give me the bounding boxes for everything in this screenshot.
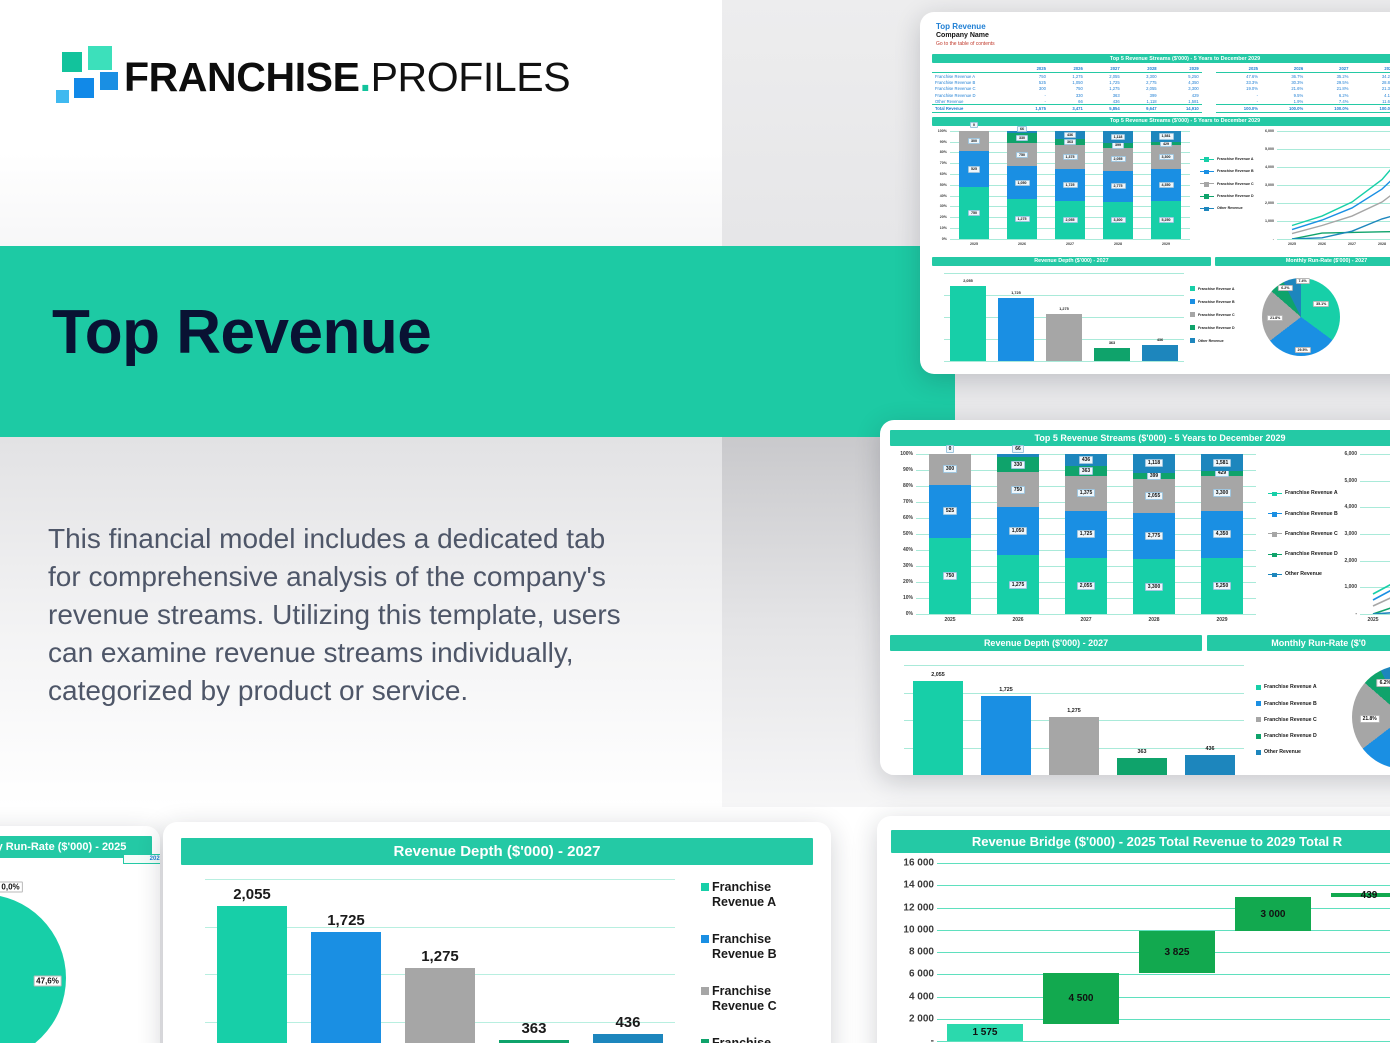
th-2025-pct: 2025 <box>1216 65 1261 73</box>
band-title-depth-large: Revenue Depth ($'000) - 2027 <box>181 838 813 865</box>
stack-column: 3,300 2,775 2,055 399 1,118 <box>1120 454 1188 614</box>
band-title-runrate: Monthly Run-Rate ($'000) - 2027 <box>1215 257 1390 266</box>
charts-row-1: 100% 90% 80% 70% 60% 50% 40% 30% 20% 10%… <box>932 129 1390 249</box>
stack-column: 1,275 1,050 750 330 66 <box>998 131 1046 239</box>
charts-row-2: 2,055 1,725 1,275 363 436 Franchise Reve… <box>932 269 1390 369</box>
th-2026-abs: 2026 <box>1049 65 1086 73</box>
revenue-table: 2025 2026 2027 2028 2029 2025 2026 2027 … <box>932 65 1390 112</box>
logo-word-franchise: FRANCHISE <box>124 54 360 100</box>
table-of-contents-link[interactable]: Go to the table of contents <box>936 41 1390 48</box>
stack-column: 1,275 1,050 750 330 66 <box>984 454 1052 614</box>
stack-column: 750 525 300 0 <box>950 131 998 239</box>
page-title: Top Revenue <box>52 302 431 364</box>
pie-runrate-2027: 35.1% 29.5% 21.8% 6.2% 7.4% <box>1262 278 1340 356</box>
runrate-lines-svg <box>1277 131 1390 239</box>
band-title-runrate-zoom: Monthly Run-Rate ($'0 <box>1207 635 1390 651</box>
chart-monthly-runrate-zoom[interactable]: 6,000 5,000 4,000 3,000 2,000 1,000 - 20… <box>1360 454 1390 614</box>
band-title-depth-zoom: Revenue Depth ($'000) - 2027 <box>890 635 1202 651</box>
th-2028-pct: 2028 <box>1351 65 1390 73</box>
stack-column: 5,250 4,350 3,300 429 1,581 <box>1142 131 1190 239</box>
logo-dot: . <box>360 54 371 100</box>
stack-column: 2,055 1,725 1,375 363 436 <box>1046 131 1094 239</box>
legend-top5-zoom: Franchise Revenue A Franchise Revenue B … <box>1268 454 1338 614</box>
th-2027-abs: 2027 <box>1086 65 1123 73</box>
logo-word-profiles: PROFILES <box>371 54 571 100</box>
background-top-left <box>0 0 722 246</box>
band-title-top5-zoom: Top 5 Revenue Streams ($'000) - 5 Years … <box>890 430 1390 446</box>
dashboard-preview-full[interactable]: Top Revenue Company Name Go to the table… <box>920 12 1390 374</box>
charts-row-zoom-1: 100% 90% 80% 70% 60% 50% 40% 30% 20% 10%… <box>890 454 1390 629</box>
legend-top5-small: Franchise Revenue A Franchise Revenue B … <box>1200 129 1254 239</box>
depth-large-body: 2,055 1,725 1,275 363 436 Franchise Reve… <box>181 879 813 1043</box>
band-titles-zoom-row-2: Revenue Depth ($'000) - 2027 Monthly Run… <box>890 635 1390 651</box>
table-row: Other Revenue -66 4361,118 1,581 -1.9% 7… <box>932 98 1390 105</box>
stack-column: 5,250 4,350 3,300 429 1,581 <box>1188 454 1256 614</box>
th-2027-pct: 2027 <box>1306 65 1351 73</box>
chart-revenue-depth-small[interactable]: 2,055 1,725 1,275 363 436 <box>944 273 1184 361</box>
pie-runrate-2027-zoom: 35.1% 29.5% 21.8% 6.2% 7.4% <box>1352 665 1390 769</box>
sheet-title: Top Revenue <box>936 22 1390 32</box>
chart-top5-stacked-small[interactable]: 100% 90% 80% 70% 60% 50% 40% 30% 20% 10%… <box>950 131 1190 239</box>
band-title-top5-table: Top 5 Revenue Streams ($'000) - 5 Years … <box>932 54 1390 63</box>
year-selector-tab-2025[interactable]: 2025 <box>123 854 160 864</box>
stack-column: 750 525 300 0 <box>916 454 984 614</box>
band-title-bridge: Revenue Bridge ($'000) - 2025 Total Reve… <box>891 830 1390 853</box>
table-row: Franchise Revenue A 7501,275 2,0553,300 … <box>932 73 1390 80</box>
chart-monthly-runrate-small[interactable]: 6,000 5,000 4,000 3,000 2,000 1,000 - 20… <box>1277 131 1390 239</box>
chart-runrate-pie-small[interactable]: 35.1% 29.5% 21.8% 6.2% 7.4% <box>1257 275 1345 363</box>
chart-top5-stacked-zoom[interactable]: 100% 90% 80% 70% 60% 50% 40% 30% 20% 10%… <box>916 454 1256 614</box>
charts-row-zoom-2: 2,055 1,725 1,275 363 436 Franchise Reve… <box>890 657 1390 775</box>
brand-logo[interactable]: FRANCHISE.PROFILES <box>48 46 570 108</box>
th-2025-abs: 2025 <box>1012 65 1049 73</box>
band-title-top5-chart: Top 5 Revenue Streams ($'000) - 5 Years … <box>932 117 1390 126</box>
table-total-row: Total Revenue 1,5753,471 5,8549,647 14,9… <box>932 105 1390 112</box>
legend-depth-small: Franchise Revenue A Franchise Revenue B … <box>1190 269 1235 361</box>
logo-wordmark: FRANCHISE.PROFILES <box>124 54 570 101</box>
bridge-bar-franchise-d: 439 <box>1331 893 1390 898</box>
bridge-bar-franchise-c: 3 000 <box>1235 897 1312 930</box>
runrate-pie-panel-2025[interactable]: ly Run-Rate ($'000) - 2025 2025 47,6% 33… <box>0 826 160 1043</box>
band-titles-row-2: Revenue Depth ($'000) - 2027 Monthly Run… <box>932 257 1390 266</box>
th-2029-abs: 2029 <box>1160 65 1202 73</box>
revenue-depth-panel-large[interactable]: Revenue Depth ($'000) - 2027 2,055 1,725… <box>163 822 831 1043</box>
chart-pie-2025[interactable]: 47,6% 33,3% 19,0% 0,0% 0,0% <box>0 894 98 1043</box>
bridge-bar-franchise-a: 4 500 <box>1043 973 1120 1023</box>
revenue-bridge-panel[interactable]: Revenue Bridge ($'000) - 2025 Total Reve… <box>877 816 1390 1043</box>
dashboard-preview-zoom[interactable]: Top 5 Revenue Streams ($'000) - 5 Years … <box>880 420 1390 775</box>
bridge-bar-franchise-b: 3 825 <box>1139 931 1216 974</box>
sheet-header: Top Revenue Company Name Go to the table… <box>930 20 1390 51</box>
pie-runrate-2025: 47,6% 33,3% 19,0% 0,0% 0,0% <box>0 894 66 1043</box>
runrate-lines-zoom-svg <box>1360 454 1390 614</box>
band-title-depth: Revenue Depth ($'000) - 2027 <box>932 257 1211 266</box>
table-header-row: 2025 2026 2027 2028 2029 2025 2026 2027 … <box>932 65 1390 73</box>
sheet-company-name: Company Name <box>936 32 1390 41</box>
stack-column: 3,300 2,775 2,055 399 1,118 <box>1094 131 1142 239</box>
chart-runrate-pie-zoom[interactable]: 35.1% 29.5% 21.8% 6.2% 7.4% <box>1352 665 1390 775</box>
hero-description: This financial model includes a dedicate… <box>48 520 623 710</box>
chart-revenue-bridge[interactable]: 16 000 14 000 12 000 10 000 8 000 6 000 … <box>937 863 1390 1041</box>
chart-revenue-depth-zoom[interactable]: 2,055 1,725 1,275 363 436 <box>904 665 1244 775</box>
bridge-bar-total-2025: 1 575 <box>947 1024 1024 1042</box>
legend-depth-large: Franchise Revenue A Franchise Revenue B … <box>701 873 813 1043</box>
legend-depth-zoom: Franchise Revenue A Franchise Revenue B … <box>1256 657 1317 775</box>
chart-revenue-depth-large[interactable]: 2,055 1,725 1,275 363 436 <box>205 879 675 1043</box>
stack-column: 2,055 1,725 1,375 363 436 <box>1052 454 1120 614</box>
th-2028-abs: 2028 <box>1123 65 1160 73</box>
logo-squares-icon <box>48 46 110 108</box>
th-2026-pct: 2026 <box>1261 65 1306 73</box>
